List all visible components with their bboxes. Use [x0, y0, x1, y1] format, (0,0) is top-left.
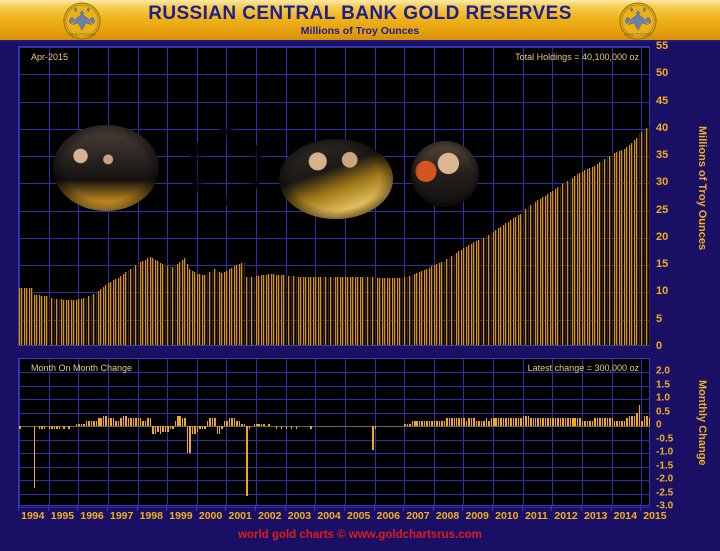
- bar: [634, 416, 636, 427]
- total-holdings-label: Total Holdings = 40,100,000 oz: [515, 52, 639, 62]
- bar: [594, 418, 596, 426]
- y-axis-tick: 2.0: [656, 366, 670, 377]
- officials-with-gold-bar-photo: [279, 139, 393, 219]
- bar: [103, 416, 105, 427]
- bar: [412, 421, 414, 426]
- bar: [375, 426, 377, 429]
- bar: [226, 421, 228, 426]
- latest-change-label: Latest change = 300,000 oz: [528, 363, 639, 373]
- bar: [59, 426, 61, 429]
- bar: [572, 418, 574, 426]
- tick-mark: [640, 506, 641, 511]
- tick-mark: [107, 506, 108, 511]
- bar: [115, 421, 117, 426]
- bar: [165, 426, 167, 431]
- y-axis-tick: 40: [656, 122, 668, 134]
- bar: [644, 416, 646, 427]
- bar: [296, 426, 298, 429]
- bar: [34, 426, 36, 488]
- bar: [93, 421, 95, 426]
- bar: [550, 418, 552, 426]
- bar: [624, 421, 626, 426]
- bar: [518, 418, 520, 426]
- bar: [631, 416, 633, 427]
- bar: [56, 426, 58, 429]
- bar: [160, 426, 162, 434]
- x-axis-tick: 2010: [495, 510, 518, 522]
- bar: [291, 426, 293, 429]
- x-axis-tick: 2013: [584, 510, 607, 522]
- x-axis-tick: 1999: [169, 510, 192, 522]
- bar: [463, 418, 465, 426]
- y-axis-tick: 20: [656, 231, 668, 243]
- bar: [616, 421, 618, 426]
- y-axis-tick: 5: [656, 313, 662, 325]
- tick-mark: [611, 506, 612, 511]
- bar: [404, 424, 406, 427]
- bar: [39, 426, 41, 429]
- bar: [609, 418, 611, 426]
- bar: [49, 426, 51, 429]
- tick-mark: [374, 506, 375, 511]
- y-axis-tick: 30: [656, 176, 668, 188]
- y-axis-tick: 35: [656, 149, 668, 161]
- bar: [560, 418, 562, 426]
- y-axis-tick: -2.0: [656, 474, 673, 485]
- bar: [468, 418, 470, 426]
- y-axis-tick: -1.5: [656, 460, 673, 471]
- bar: [118, 421, 120, 426]
- bar: [261, 424, 263, 427]
- page-title: RUSSIAN CENTRAL BANK GOLD RESERVES: [148, 4, 572, 23]
- monthly-change-bars: [19, 359, 649, 505]
- x-axis-tick: 2002: [258, 510, 281, 522]
- bar: [483, 421, 485, 426]
- bar: [192, 426, 194, 434]
- bar: [577, 418, 579, 426]
- tick-mark: [77, 506, 78, 511]
- putin-inspecting-gold-bars-photo: [53, 125, 159, 211]
- bar: [409, 424, 411, 427]
- tick-mark: [433, 506, 434, 511]
- bar: [458, 418, 460, 426]
- bar: [461, 418, 463, 426]
- bar: [138, 418, 140, 426]
- bar: [68, 426, 70, 429]
- y-axis-tick: 0: [656, 420, 662, 431]
- gold-reserves-chart-panel: Apr-2015 Total Holdings = 40,100,000 oz: [18, 46, 650, 346]
- bar: [256, 424, 258, 427]
- bar: [249, 426, 251, 429]
- tick-mark: [551, 506, 552, 511]
- bar: [419, 421, 421, 426]
- bar: [584, 421, 586, 426]
- bar: [540, 418, 542, 426]
- x-axis-tick: 1996: [80, 510, 103, 522]
- bar: [429, 421, 431, 426]
- bar: [96, 421, 98, 426]
- bar: [493, 418, 495, 426]
- x-axis-tick: 2004: [317, 510, 340, 522]
- bar: [236, 421, 238, 426]
- russian-eagle-emblem-icon-right: БАНК РОССИИ: [618, 2, 658, 40]
- bar: [78, 424, 80, 427]
- bar: [547, 418, 549, 426]
- bar: [441, 421, 443, 426]
- bar: [488, 421, 490, 426]
- tick-mark: [48, 506, 49, 511]
- bar: [54, 426, 56, 429]
- main-y-axis-title: Millions of Troy Ounces: [696, 126, 708, 250]
- bar: [481, 421, 483, 426]
- bar: [636, 413, 638, 426]
- bar: [157, 426, 159, 431]
- bar: [214, 418, 216, 426]
- bar: [421, 421, 423, 426]
- bar: [555, 418, 557, 426]
- bar: [199, 426, 201, 429]
- bar: [254, 424, 256, 427]
- bar: [76, 424, 78, 427]
- russian-eagle-emblem-icon: БАНК РОССИИ: [62, 2, 102, 40]
- y-axis-tick: -0.5: [656, 433, 673, 444]
- tick-mark: [462, 506, 463, 511]
- bar: [639, 405, 641, 427]
- bar: [100, 418, 102, 426]
- x-axis-tick: 1997: [110, 510, 133, 522]
- bar: [436, 421, 438, 426]
- bar: [170, 426, 172, 429]
- tick-mark: [196, 506, 197, 511]
- bar: [557, 418, 559, 426]
- bar: [449, 418, 451, 426]
- bar: [446, 418, 448, 426]
- bar: [98, 418, 100, 426]
- y-axis-tick: 1.5: [656, 379, 670, 390]
- bar: [83, 424, 85, 427]
- x-axis-tick: 2012: [554, 510, 577, 522]
- bar: [142, 421, 144, 426]
- bar: [612, 418, 614, 426]
- bar: [179, 416, 181, 427]
- bar: [276, 426, 278, 429]
- bar: [579, 418, 581, 426]
- bar: [19, 426, 21, 429]
- bar: [229, 418, 231, 426]
- bar: [135, 418, 137, 426]
- bar: [582, 421, 584, 426]
- x-axis-tick: 2007: [406, 510, 429, 522]
- tick-mark: [166, 506, 167, 511]
- date-label: Apr-2015: [31, 52, 68, 62]
- month-on-month-label: Month On Month Change: [31, 363, 132, 373]
- bar: [473, 418, 475, 426]
- bar: [194, 426, 196, 434]
- bar: [570, 418, 572, 426]
- bar: [86, 421, 88, 426]
- bar: [268, 424, 270, 427]
- bar: [498, 418, 500, 426]
- bar: [281, 426, 283, 429]
- bar: [530, 418, 532, 426]
- bar: [407, 424, 409, 427]
- bar: [602, 418, 604, 426]
- bar: [649, 418, 651, 426]
- bar: [649, 126, 651, 345]
- bar: [597, 418, 599, 426]
- bar: [525, 416, 527, 427]
- bar: [310, 426, 312, 429]
- tick-mark: [581, 506, 582, 511]
- bar: [224, 421, 226, 426]
- bar: [562, 418, 564, 426]
- bar: [431, 421, 433, 426]
- bar: [234, 418, 236, 426]
- tick-mark: [285, 506, 286, 511]
- bar: [451, 418, 453, 426]
- tick-mark: [492, 506, 493, 511]
- bar: [113, 418, 115, 426]
- bar: [629, 416, 631, 427]
- bar: [607, 418, 609, 426]
- bar: [456, 418, 458, 426]
- bar: [508, 418, 510, 426]
- x-axis-tick: 2011: [525, 510, 548, 522]
- tick-mark: [314, 506, 315, 511]
- x-axis-tick: 2014: [614, 510, 637, 522]
- putin-holding-gold-bar-photo: [189, 129, 263, 205]
- bar: [221, 426, 223, 429]
- chart-page: БАНК РОССИИ RUSSIAN CENTRAL BANK GOLD RE…: [0, 0, 720, 551]
- bar: [155, 426, 157, 434]
- bar: [241, 424, 243, 427]
- bar: [41, 426, 43, 429]
- y-axis-tick: -2.5: [656, 487, 673, 498]
- bar: [108, 418, 110, 426]
- bar: [416, 421, 418, 426]
- x-axis-tick: 2006: [377, 510, 400, 522]
- bar: [478, 421, 480, 426]
- bar: [599, 418, 601, 426]
- bar: [466, 421, 468, 426]
- bar: [133, 418, 135, 426]
- bar: [123, 416, 125, 427]
- tick-mark: [255, 506, 256, 511]
- bar: [162, 426, 164, 431]
- x-axis-tick: 2015: [643, 510, 666, 522]
- bar: [621, 421, 623, 426]
- bar: [434, 421, 436, 426]
- tick-mark: [18, 506, 19, 511]
- bar: [491, 418, 493, 426]
- bar: [231, 418, 233, 426]
- bar: [424, 421, 426, 426]
- bar: [372, 426, 374, 450]
- bar: [189, 426, 191, 453]
- page-subtitle: Millions of Troy Ounces: [301, 26, 419, 37]
- bar: [574, 418, 576, 426]
- y-axis-tick: 10: [656, 285, 668, 297]
- bar: [286, 426, 288, 429]
- bar: [414, 421, 416, 426]
- bar: [187, 426, 189, 453]
- bar: [204, 426, 206, 429]
- y-axis-tick: 50: [656, 67, 668, 79]
- y-axis-tick: 0: [656, 340, 662, 352]
- medvedev-photo: [411, 141, 479, 207]
- bar: [217, 426, 219, 434]
- bar: [110, 418, 112, 426]
- bar: [454, 418, 456, 426]
- bar: [535, 418, 537, 426]
- bar: [614, 421, 616, 426]
- bar: [471, 418, 473, 426]
- bar: [604, 418, 606, 426]
- bar: [91, 421, 93, 426]
- bar: [44, 426, 46, 429]
- bar: [175, 421, 177, 426]
- tick-mark: [403, 506, 404, 511]
- x-axis-tick: 2009: [466, 510, 489, 522]
- bar: [500, 418, 502, 426]
- bar: [140, 418, 142, 426]
- bar: [177, 416, 179, 427]
- bar: [533, 418, 535, 426]
- tick-mark: [522, 506, 523, 511]
- bar: [81, 424, 83, 427]
- x-axis-tick: 2005: [347, 510, 370, 522]
- y-axis-tick: 1.0: [656, 393, 670, 404]
- bar: [128, 418, 130, 426]
- bar: [426, 421, 428, 426]
- bar: [202, 426, 204, 429]
- bar: [120, 418, 122, 426]
- bar: [542, 418, 544, 426]
- bar: [152, 426, 154, 434]
- bar: [172, 426, 174, 429]
- tick-mark: [344, 506, 345, 511]
- bar: [523, 416, 525, 427]
- bar: [207, 421, 209, 426]
- bar: [244, 424, 246, 427]
- tick-mark: [137, 506, 138, 511]
- bar: [646, 416, 648, 427]
- bar: [513, 418, 515, 426]
- bar: [505, 418, 507, 426]
- bar: [486, 418, 488, 426]
- x-axis-tick: 1994: [21, 510, 44, 522]
- bar: [263, 424, 265, 427]
- svg-text:БАНК РОССИИ: БАНК РОССИИ: [68, 32, 96, 36]
- y-axis-tick: 55: [656, 40, 668, 52]
- bar: [88, 421, 90, 426]
- y-axis-tick: 0.5: [656, 406, 670, 417]
- bar: [503, 418, 505, 426]
- bar: [184, 418, 186, 426]
- x-axis-tick: 1995: [51, 510, 74, 522]
- bar: [182, 418, 184, 426]
- y-axis-tick: 25: [656, 204, 668, 216]
- x-axis-tick: 1998: [140, 510, 163, 522]
- bar: [528, 416, 530, 427]
- bar: [145, 421, 147, 426]
- bar: [587, 421, 589, 426]
- bar: [246, 426, 248, 496]
- y-axis-tick: -1.0: [656, 447, 673, 458]
- lower-y-axis-title: Monthly Change: [696, 380, 708, 466]
- bar: [63, 426, 65, 429]
- bar: [197, 426, 199, 431]
- monthly-change-chart-panel: Month On Month Change Latest change = 30…: [18, 358, 650, 506]
- bar: [592, 421, 594, 426]
- bar: [520, 418, 522, 426]
- bar: [641, 421, 643, 426]
- bar: [619, 421, 621, 426]
- title-banner: БАНК РОССИИ RUSSIAN CENTRAL BANK GOLD RE…: [0, 0, 720, 42]
- bar: [537, 418, 539, 426]
- bar: [444, 421, 446, 426]
- bar: [51, 426, 53, 429]
- bar: [476, 421, 478, 426]
- bar: [565, 418, 567, 426]
- bar: [552, 418, 554, 426]
- bar: [125, 416, 127, 427]
- bar: [258, 424, 260, 427]
- bar: [626, 418, 628, 426]
- bar: [439, 421, 441, 426]
- bar: [130, 418, 132, 426]
- bar: [567, 418, 569, 426]
- bar: [219, 426, 221, 434]
- tick-mark: [225, 506, 226, 511]
- bar: [545, 418, 547, 426]
- bar: [495, 418, 497, 426]
- bar: [510, 418, 512, 426]
- bar: [589, 421, 591, 426]
- y-axis-tick: 15: [656, 258, 668, 270]
- x-axis-tick: 2003: [288, 510, 311, 522]
- x-axis-tick: 2000: [199, 510, 222, 522]
- bar: [515, 418, 517, 426]
- footer-credit: world gold charts © www.goldchartsrus.co…: [0, 529, 720, 541]
- bar: [209, 418, 211, 426]
- bar: [212, 418, 214, 426]
- x-axis-tick: 2001: [229, 510, 252, 522]
- bar: [105, 416, 107, 427]
- bar: [167, 426, 169, 431]
- bar: [147, 418, 149, 426]
- y-axis-tick: 45: [656, 95, 668, 107]
- svg-text:БАНК РОССИИ: БАНК РОССИИ: [624, 32, 652, 36]
- bar: [239, 421, 241, 426]
- x-axis-tick: 2008: [436, 510, 459, 522]
- gridline: [19, 507, 649, 508]
- bar: [150, 418, 152, 426]
